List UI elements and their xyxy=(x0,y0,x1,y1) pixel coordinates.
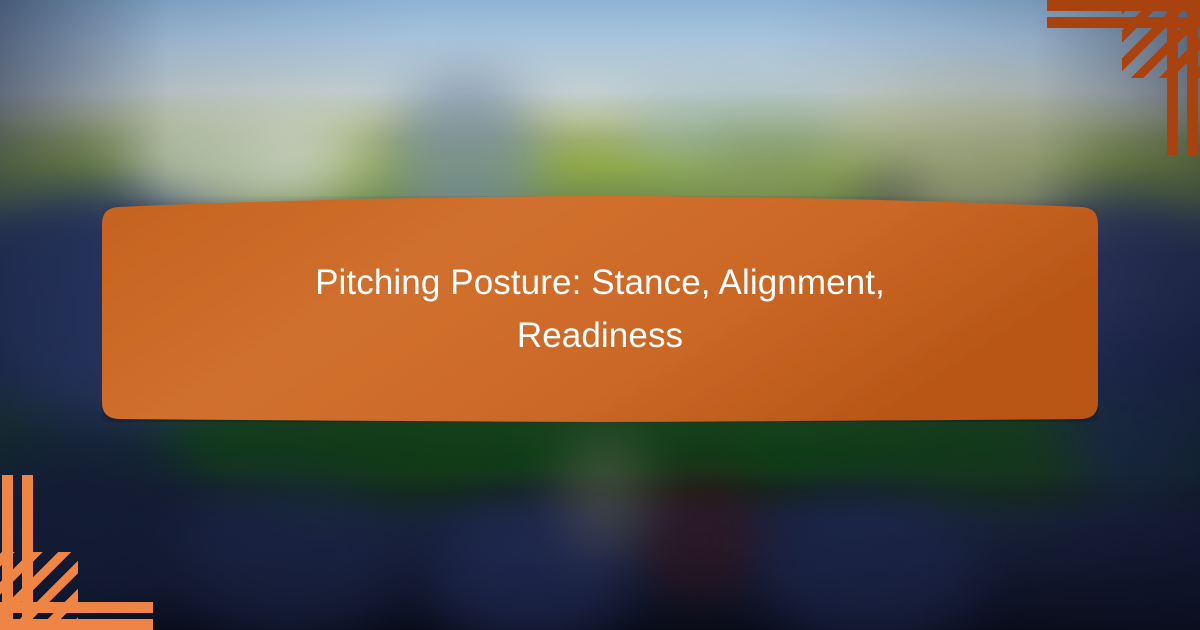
frame-bar-vertical-outer xyxy=(2,475,13,630)
share-card-canvas: Pitching Posture: Stance, Alignment, Rea… xyxy=(0,0,1200,630)
title-card-text-area: Pitching Posture: Stance, Alignment, Rea… xyxy=(102,196,1098,422)
frame-bar-vertical-inner xyxy=(1167,0,1178,155)
corner-frame-top-right xyxy=(1030,0,1200,170)
page-title: Pitching Posture: Stance, Alignment, Rea… xyxy=(280,256,920,362)
title-card: Pitching Posture: Stance, Alignment, Rea… xyxy=(102,196,1098,422)
frame-bar-vertical-outer xyxy=(1187,0,1198,155)
frame-bar-vertical-inner xyxy=(22,475,33,630)
corner-frame-bottom-left xyxy=(0,460,170,630)
